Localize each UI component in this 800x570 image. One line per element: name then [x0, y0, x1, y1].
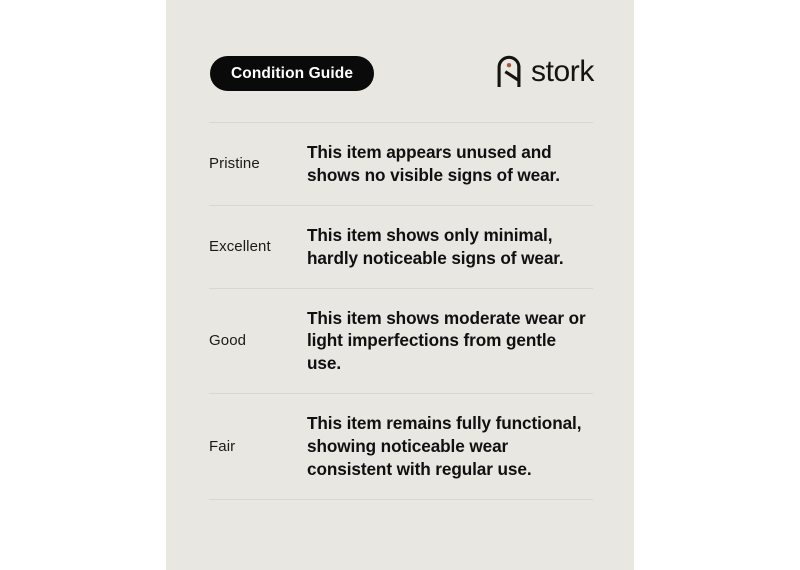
brand-wordmark: stork: [531, 57, 594, 87]
brand-lockup: stork: [496, 54, 594, 87]
condition-label: Excellent: [209, 237, 307, 257]
condition-description: This item shows moderate wear or light i…: [307, 307, 593, 376]
condition-guide-card: Condition Guide stork Pristine This item…: [166, 0, 634, 570]
stork-arch-mark-icon: [496, 54, 522, 87]
table-row: Fair This item remains fully functional,…: [209, 394, 593, 499]
table-divider-bottom: [209, 499, 593, 500]
card-header: Condition Guide stork: [210, 54, 594, 94]
condition-label: Pristine: [209, 154, 307, 174]
table-row: Pristine This item appears unused and sh…: [209, 123, 593, 205]
table-row: Good This item shows moderate wear or li…: [209, 289, 593, 394]
table-row: Excellent This item shows only minimal, …: [209, 206, 593, 288]
condition-label: Good: [209, 331, 307, 351]
condition-description: This item remains fully functional, show…: [307, 412, 593, 481]
condition-label: Fair: [209, 437, 307, 457]
condition-description: This item shows only minimal, hardly not…: [307, 224, 593, 270]
condition-guide-badge: Condition Guide: [210, 56, 374, 91]
condition-description: This item appears unused and shows no vi…: [307, 141, 593, 187]
condition-guide-table: Pristine This item appears unused and sh…: [209, 122, 593, 500]
page-root: Condition Guide stork Pristine This item…: [0, 0, 800, 570]
